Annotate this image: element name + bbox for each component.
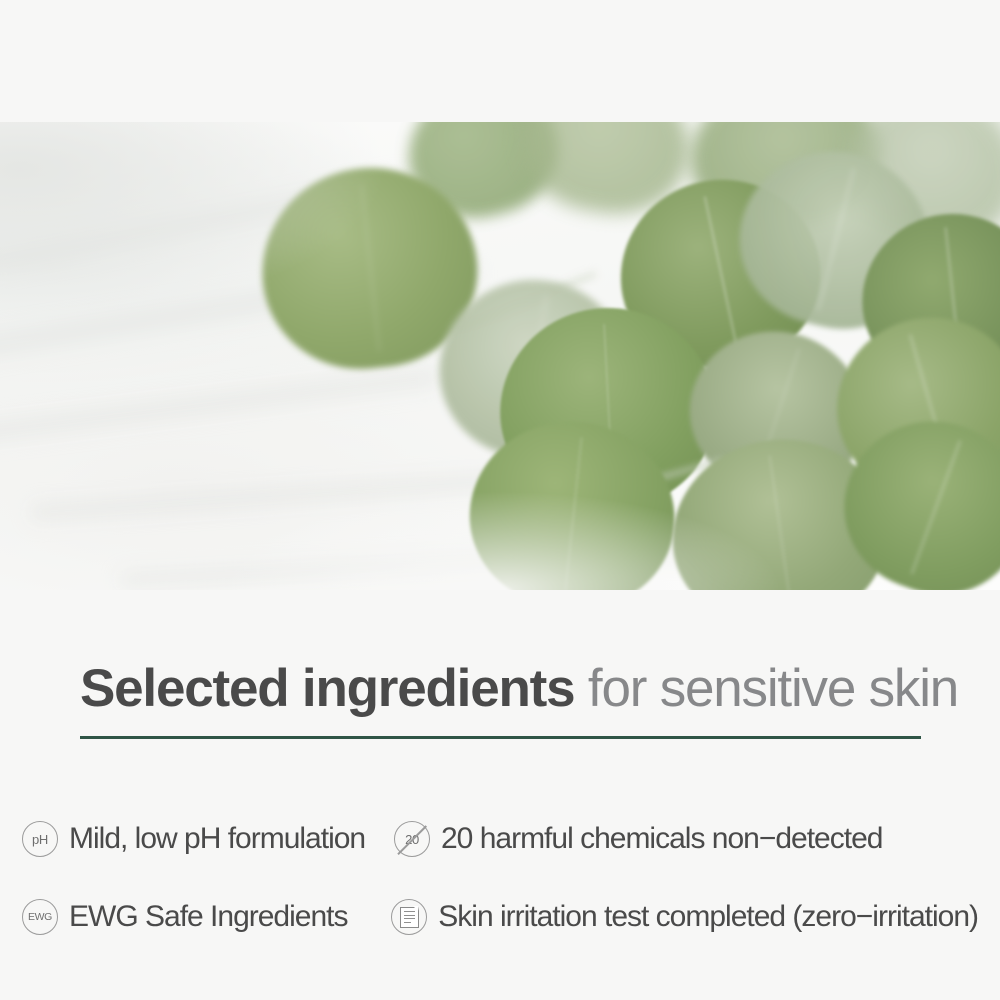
ewg-circle-icon: EWG bbox=[22, 899, 58, 935]
page-title-light: for sensitive skin bbox=[574, 659, 958, 718]
feature-label: Skin irritation test completed (zero−irr… bbox=[438, 902, 978, 932]
twenty-chemicals-crossed-icon: 20 bbox=[394, 821, 430, 857]
page-title: Selected ingredients for sensitive skin bbox=[80, 660, 940, 717]
doc-line bbox=[404, 918, 415, 919]
feature-item-ewg: EWG EWG Safe Ingredients bbox=[22, 899, 391, 935]
document-report-icon bbox=[391, 899, 427, 935]
hero-photo-centella-leaves bbox=[0, 122, 1000, 590]
prohibition-slash-icon bbox=[397, 825, 426, 854]
doc-line bbox=[404, 922, 412, 923]
page-title-strong: Selected ingredients bbox=[80, 659, 574, 718]
ph-circle-icon: pH bbox=[22, 821, 58, 857]
doc-line bbox=[404, 915, 415, 916]
feature-row: EWG EWG Safe Ingredients Skin irritation… bbox=[22, 878, 978, 956]
document-page-glyph bbox=[400, 907, 419, 928]
feature-label: EWG Safe Ingredients bbox=[69, 902, 347, 932]
feature-label: Mild, low pH formulation bbox=[69, 824, 365, 854]
photo-vignette bbox=[0, 122, 1000, 590]
feature-item-ph: pH Mild, low pH formulation bbox=[22, 821, 394, 857]
doc-line bbox=[404, 911, 415, 912]
ph-icon-label: pH bbox=[32, 833, 48, 846]
ewg-icon-label: EWG bbox=[28, 912, 52, 923]
product-detail-page: Selected ingredients for sensitive skin … bbox=[0, 0, 1000, 1000]
feature-item-irritation-test: Skin irritation test completed (zero−irr… bbox=[391, 899, 978, 935]
title-underline-divider bbox=[80, 736, 921, 739]
feature-row: pH Mild, low pH formulation 20 20 harmfu… bbox=[22, 800, 978, 878]
feature-label: 20 harmful chemicals non−detected bbox=[441, 824, 882, 854]
feature-item-chemicals: 20 20 harmful chemicals non−detected bbox=[394, 821, 978, 857]
feature-list: pH Mild, low pH formulation 20 20 harmfu… bbox=[22, 800, 978, 956]
